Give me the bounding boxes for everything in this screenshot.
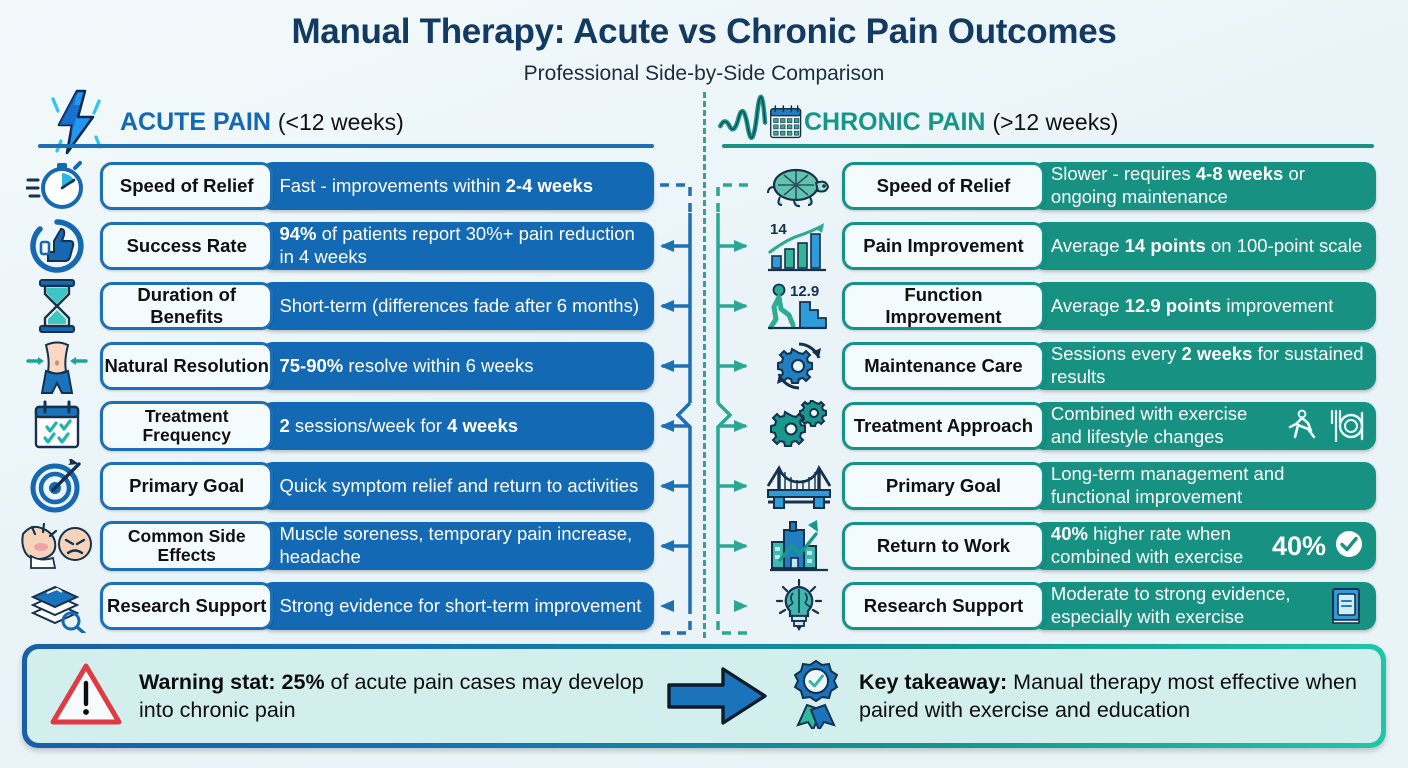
chronic-label-chip: Pain Improvement (842, 222, 1045, 270)
chronic-label-chip: Return to Work (842, 522, 1045, 570)
acute-row-primary-goal[interactable]: Primary Goal Quick symptom relief and re… (14, 462, 654, 510)
chronic-row-speed-of-relief[interactable]: Speed of Relief Slower - requires 4-8 we… (756, 162, 1376, 210)
office-growth-icon (756, 520, 842, 572)
chronic-value-bar: Slower - requires 4-8 weeks or ongoing m… (1033, 162, 1376, 210)
chronic-row-maintenance-care[interactable]: Maintenance Care Sessions every 2 weeks … (756, 342, 1376, 390)
acute-value-bar: 75-90% resolve within 6 weeks (261, 342, 654, 390)
row-label: Speed of Relief (877, 175, 1011, 197)
hourglass-icon (14, 278, 100, 334)
row-value: Moderate to strong evidence, especially … (1051, 583, 1318, 628)
sore-muscle-icon (14, 520, 100, 572)
acute-value-bar: Muscle soreness, temporary pain increase… (261, 522, 654, 570)
row-value: Muscle soreness, temporary pain increase… (279, 523, 642, 568)
acute-value-bar: Strong evidence for short-term improveme… (261, 582, 654, 630)
exercise-diet-icon (1278, 409, 1364, 443)
chronic-heading-text: CHRONIC PAIN (>12 weeks) (804, 108, 1118, 137)
row-label: Research Support (107, 595, 266, 617)
chronic-row-treatment-approach[interactable]: Treatment Approach Combined with exercis… (756, 402, 1376, 450)
acute-header-rule (38, 144, 654, 148)
chronic-value-bar: Long-term management and functional impr… (1033, 462, 1376, 510)
row-value: Average 14 points on 100-point scale (1051, 235, 1362, 258)
chronic-row-function-improvement[interactable]: 12.9 Function Improvement Average 12.9 p… (756, 282, 1376, 330)
turtle-icon (756, 163, 842, 209)
row-value: Average 12.9 points improvement (1051, 295, 1333, 318)
row-label: Speed of Relief (120, 175, 254, 197)
acute-row-natural-resolution[interactable]: Natural Resolution 75-90% resolve within… (14, 342, 654, 390)
chronic-row-primary-goal[interactable]: Primary Goal Long-term management and fu… (756, 462, 1376, 510)
chronic-label-chip: Research Support (842, 582, 1045, 630)
bridge-icon (756, 462, 842, 510)
row-value: Long-term management and functional impr… (1051, 463, 1364, 508)
row-value: Fast - improvements within 2-4 weeks (279, 175, 593, 198)
check-circle-icon (1334, 529, 1364, 564)
chronic-value-bar: Average 14 points on 100-point scale (1033, 222, 1376, 270)
target-dart-icon (14, 459, 100, 513)
warning-triangle-icon (49, 661, 123, 732)
summary-banner-inner: Warning stat: 25% of acute pain cases ma… (27, 649, 1381, 743)
acute-heading-sub: (<12 weeks) (278, 109, 404, 135)
page-title: Manual Therapy: Acute vs Chronic Pain Ou… (0, 12, 1408, 52)
chronic-value-bar: Combined with exercise and lifestyle cha… (1033, 402, 1376, 450)
chronic-row-return-to-work[interactable]: Return to Work 40% higher rate when comb… (756, 522, 1376, 570)
row-label: Research Support (864, 595, 1023, 617)
acute-label-chip: Research Support (100, 582, 273, 630)
return-to-work-badge: 40% (1262, 529, 1364, 564)
acute-row-duration-of-benefits[interactable]: Duration of Benefits Short-term (differe… (14, 282, 654, 330)
acute-row-success-rate[interactable]: Success Rate 94% of patients report 30%+… (14, 222, 654, 270)
row-label: Maintenance Care (864, 355, 1022, 377)
chronic-header-rule (722, 144, 1374, 148)
chronic-value-bar: Moderate to strong evidence, especially … (1033, 582, 1376, 630)
row-value: Combined with exercise and lifestyle cha… (1051, 403, 1278, 448)
infographic-canvas: Manual Therapy: Acute vs Chronic Pain Ou… (0, 0, 1408, 768)
summary-banner: Warning stat: 25% of acute pain cases ma… (22, 644, 1386, 748)
row-value: Quick symptom relief and return to activ… (279, 475, 638, 498)
row-value: Short-term (differences fade after 6 mon… (279, 295, 639, 318)
book-icon (1318, 587, 1364, 625)
chronic-heading-sub: (>12 weeks) (992, 109, 1118, 135)
acute-row-speed-of-relief[interactable]: Speed of Relief Fast - improvements with… (14, 162, 654, 210)
warning-stat-text: Warning stat: 25% of acute pain cases ma… (139, 668, 659, 725)
acute-heading-main: ACUTE PAIN (120, 108, 271, 136)
chronic-label-chip: Primary Goal (842, 462, 1045, 510)
row-label: Primary Goal (129, 475, 244, 497)
row-value: Sessions every 2 weeks for sustained res… (1051, 343, 1364, 388)
thumbs-up-icon (14, 218, 100, 274)
chronic-value-bar: 40% higher rate when combined with exerc… (1033, 522, 1376, 570)
row-label: Pain Improvement (863, 235, 1023, 257)
acute-column-header: ACUTE PAIN (<12 weeks) (34, 98, 404, 146)
acute-value-bar: Short-term (differences fade after 6 mon… (261, 282, 654, 330)
badge-percent: 40% (1272, 531, 1326, 562)
row-label: Natural Resolution (105, 355, 269, 377)
acute-label-chip: Primary Goal (100, 462, 273, 510)
acute-value-bar: Quick symptom relief and return to activ… (261, 462, 654, 510)
row-label: Function Improvement (845, 284, 1042, 328)
row-label: Treatment Frequency (103, 407, 270, 445)
acute-row-common-side-effects[interactable]: Common Side Effects Muscle soreness, tem… (14, 522, 654, 570)
chronic-label-chip: Speed of Relief (842, 162, 1045, 210)
torso-body-icon (14, 337, 100, 395)
chronic-column-header: CHRONIC PAIN (>12 weeks) (718, 98, 1118, 146)
warning-stat-block: Warning stat: 25% of acute pain cases ma… (49, 661, 659, 732)
acute-heading-text: ACUTE PAIN (<12 weeks) (120, 108, 404, 137)
gear-cycle-icon (756, 338, 842, 394)
icon-value-14: 14 (770, 221, 787, 238)
person-stairs-icon: 12.9 (756, 278, 842, 334)
acute-label-chip: Speed of Relief (100, 162, 273, 210)
chronic-value-bar: Average 12.9 points improvement (1033, 282, 1376, 330)
acute-value-bar: Fast - improvements within 2-4 weeks (261, 162, 654, 210)
two-gears-icon (756, 400, 842, 452)
acute-value-bar: 94% of patients report 30%+ pain reducti… (261, 222, 654, 270)
row-label: Return to Work (877, 535, 1010, 557)
acute-label-chip: Natural Resolution (100, 342, 273, 390)
row-value: Strong evidence for short-term improveme… (279, 595, 641, 618)
acute-label-chip: Treatment Frequency (100, 401, 273, 451)
row-label: Primary Goal (886, 475, 1001, 497)
row-value: 40% higher rate when combined with exerc… (1051, 523, 1262, 568)
chronic-label-chip: Function Improvement (842, 282, 1045, 330)
acute-row-research-support[interactable]: Research Support Strong evidence for sho… (14, 582, 654, 630)
calendar-check-icon (14, 400, 100, 452)
key-takeaway-text: Key takeaway: Manual therapy most effect… (859, 668, 1359, 725)
row-value: 94% of patients report 30%+ pain reducti… (279, 223, 642, 268)
row-label: Duration of Benefits (103, 284, 270, 328)
chronic-label-chip: Maintenance Care (842, 342, 1045, 390)
row-value: 2 sessions/week for 4 weeks (279, 415, 518, 438)
row-value: 75-90% resolve within 6 weeks (279, 355, 533, 378)
acute-row-treatment-frequency[interactable]: Treatment Frequency 2 sessions/week for … (14, 402, 654, 450)
brain-bulb-icon (756, 579, 842, 633)
chronic-row-pain-improvement[interactable]: 14 Pain Improvement Average 14 points on… (756, 222, 1376, 270)
acute-label-chip: Common Side Effects (100, 521, 273, 571)
chronic-heading-main: CHRONIC PAIN (804, 108, 985, 136)
chronic-row-research-support[interactable]: Research Support Moderate to strong evid… (756, 582, 1376, 630)
right-arrow-icon (665, 665, 769, 727)
chronic-label-chip: Treatment Approach (842, 402, 1045, 450)
row-label: Common Side Effects (103, 527, 270, 565)
row-label: Treatment Approach (854, 415, 1033, 437)
icon-value-12-9: 12.9 (790, 283, 819, 300)
chronic-value-bar: Sessions every 2 weeks for sustained res… (1033, 342, 1376, 390)
stopwatch-icon (14, 160, 100, 212)
acute-value-bar: 2 sessions/week for 4 weeks (261, 402, 654, 450)
award-ribbon-icon (787, 659, 845, 734)
row-value: Slower - requires 4-8 weeks or ongoing m… (1051, 163, 1364, 208)
row-label: Success Rate (127, 235, 247, 257)
books-magnifier-icon (14, 579, 100, 633)
acute-label-chip: Duration of Benefits (100, 282, 273, 330)
acute-label-chip: Success Rate (100, 222, 273, 270)
center-divider (703, 92, 706, 638)
key-takeaway-block: Key takeaway: Manual therapy most effect… (787, 659, 1359, 734)
page-subtitle: Professional Side-by-Side Comparison (0, 62, 1408, 86)
bar-chart-growth-icon: 14 (756, 218, 842, 274)
